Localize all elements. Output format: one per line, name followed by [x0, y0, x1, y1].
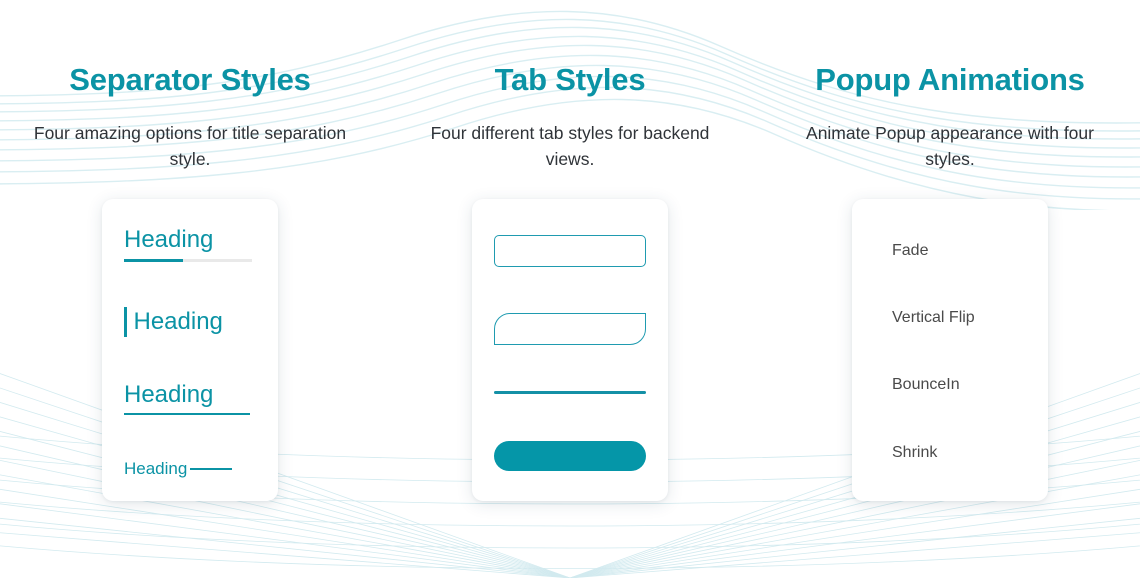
- separator-style-inline-line[interactable]: Heading: [124, 460, 258, 479]
- tab-spacer: [494, 267, 646, 313]
- separator-heading-label: Heading: [124, 227, 258, 253]
- separator-heading-label: Heading: [124, 382, 258, 408]
- column-popup-animations: Popup Animations Animate Popup appearanc…: [760, 0, 1140, 578]
- column-separator-styles: Separator Styles Four amazing options fo…: [0, 0, 380, 578]
- separator-inline-line: [190, 468, 232, 470]
- column-tab-styles: Tab Styles Four different tab styles for…: [380, 0, 760, 578]
- popup-animation-option-vertical-flip[interactable]: Vertical Flip: [892, 310, 1048, 326]
- separator-heading-label: Heading: [124, 460, 187, 479]
- tab-style-rounded-outline[interactable]: [494, 235, 646, 267]
- separator-style-underline-partial[interactable]: Heading: [124, 227, 258, 262]
- feature-columns: Separator Styles Four amazing options fo…: [0, 0, 1140, 578]
- column-title: Popup Animations: [815, 62, 1084, 98]
- popup-animation-option-fade[interactable]: Fade: [892, 243, 1048, 259]
- separator-underline-full-line: [124, 413, 250, 415]
- separator-heading-label: Heading: [134, 309, 223, 335]
- tab-style-diagonal-outline[interactable]: [494, 313, 646, 345]
- separator-underline-accent: [124, 259, 183, 262]
- popup-animation-option-bouncein[interactable]: BounceIn: [892, 377, 1048, 393]
- separator-style-underline-full[interactable]: Heading: [124, 382, 258, 415]
- tab-spacer: [494, 394, 646, 440]
- separator-underline-track: [124, 259, 252, 262]
- column-title: Tab Styles: [495, 62, 646, 98]
- separator-style-left-bar[interactable]: Heading: [124, 307, 258, 337]
- column-subtitle: Four different tab styles for backend vi…: [405, 120, 735, 173]
- separator-vertical-bar: [124, 307, 127, 337]
- popup-animation-card: Fade Vertical Flip BounceIn Shrink: [852, 199, 1048, 501]
- column-subtitle: Animate Popup appearance with four style…: [785, 120, 1115, 173]
- separator-preview-card: Heading Heading Heading Heading: [102, 199, 278, 501]
- tab-style-filled-pill[interactable]: [494, 441, 646, 471]
- column-subtitle: Four amazing options for title separatio…: [25, 120, 355, 173]
- tab-preview-card: [472, 199, 668, 501]
- popup-animation-option-shrink[interactable]: Shrink: [892, 445, 1048, 461]
- column-title: Separator Styles: [69, 62, 310, 98]
- tab-spacer: [494, 345, 646, 391]
